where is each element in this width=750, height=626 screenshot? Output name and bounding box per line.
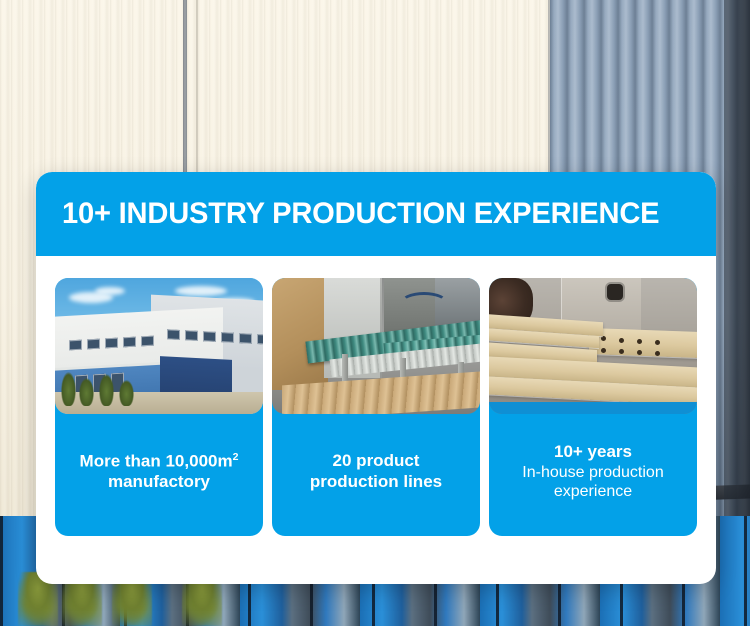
feature-line: production lines [310,472,442,493]
feature-line: experience [554,482,632,502]
feature-line-text: More than 10,000m [80,452,233,471]
superscript-two: 2 [233,451,239,463]
feature-card-list: More than 10,000m2 manufactory [36,256,716,536]
feature-card-production-lines[interactable]: 20 product production lines [272,278,480,536]
feature-line: In-house production [522,463,663,483]
screenshot-root: 10+ INDUSTRY PRODUCTION EXPERIENCE [0,0,750,626]
page-title: 10+ INDUSTRY PRODUCTION EXPERIENCE [62,199,659,229]
feature-line: 10+ years [554,442,632,463]
panel-header: 10+ INDUSTRY PRODUCTION EXPERIENCE [36,172,716,256]
wooden-panels-photo [489,278,697,414]
feature-card-experience[interactable]: 10+ years In-house production experience [489,278,697,536]
feature-card-text: 20 product production lines [272,414,480,536]
feature-card-manufactory[interactable]: More than 10,000m2 manufactory [55,278,263,536]
background-dark-column [724,0,750,540]
feature-line: manufactory [108,472,210,493]
feature-line: 20 product [333,451,420,472]
feature-card-text: More than 10,000m2 manufactory [55,414,263,536]
feature-panel: 10+ INDUSTRY PRODUCTION EXPERIENCE [36,172,716,584]
production-line-photo [272,278,480,414]
feature-line: More than 10,000m2 [80,451,239,472]
factory-building-photo [55,278,263,414]
feature-card-text: 10+ years In-house production experience [489,414,697,536]
